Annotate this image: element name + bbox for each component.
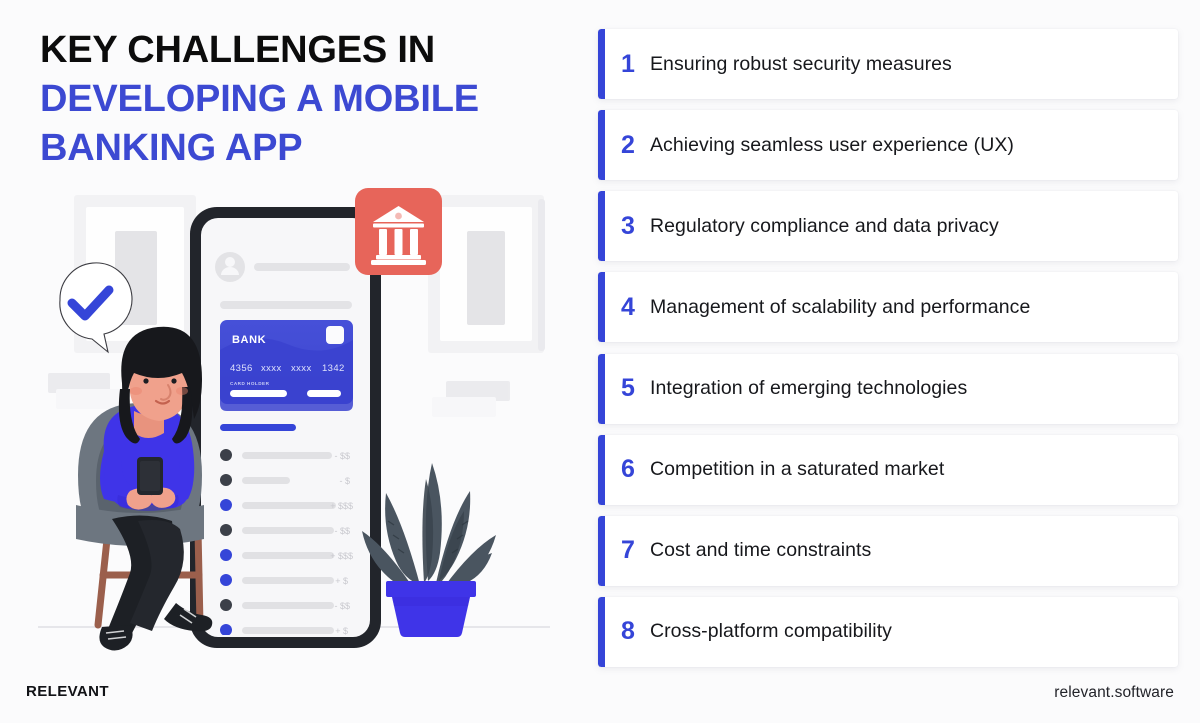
svg-text:- $$: - $$ bbox=[334, 601, 350, 611]
accent-bar bbox=[598, 272, 605, 342]
svg-text:1342: 1342 bbox=[322, 363, 345, 374]
progress-bar bbox=[220, 424, 296, 431]
item-label: Management of scalability and performanc… bbox=[650, 296, 1030, 319]
item-number: 5 bbox=[598, 374, 650, 403]
item-label: Ensuring robust security measures bbox=[650, 53, 952, 76]
accent-bar bbox=[598, 435, 605, 505]
website-url[interactable]: relevant.software bbox=[1054, 684, 1174, 702]
item-label: Integration of emerging technologies bbox=[650, 377, 967, 400]
svg-text:4356: 4356 bbox=[230, 363, 253, 374]
page-title: KEY CHALLENGES IN DEVELOPING A MOBILE BA… bbox=[40, 26, 570, 173]
svg-text:xxxx: xxxx bbox=[261, 363, 282, 374]
bank-building-icon bbox=[355, 188, 442, 275]
svg-text:+ $$$: + $$$ bbox=[330, 551, 353, 561]
accent-bar bbox=[598, 110, 605, 180]
item-label: Cross-platform compatibility bbox=[650, 620, 892, 643]
list-item[interactable]: 5 Integration of emerging technologies bbox=[598, 354, 1178, 424]
item-number: 8 bbox=[598, 617, 650, 646]
item-number: 7 bbox=[598, 536, 650, 565]
svg-text:+ $$$: + $$$ bbox=[330, 501, 353, 511]
list-item[interactable]: 1 Ensuring robust security measures bbox=[598, 29, 1178, 99]
svg-text:+ $: + $ bbox=[335, 576, 348, 586]
footer: RELEVANT relevant.software bbox=[0, 667, 1200, 723]
title-line-3: BANKING APP bbox=[40, 124, 570, 173]
item-number: 4 bbox=[598, 293, 650, 322]
item-number: 6 bbox=[598, 455, 650, 484]
accent-bar bbox=[598, 29, 605, 99]
list-item[interactable]: 4 Management of scalability and performa… bbox=[598, 272, 1178, 342]
item-number: 3 bbox=[598, 212, 650, 241]
title-line-2: DEVELOPING A MOBILE bbox=[40, 75, 570, 124]
accent-bar bbox=[598, 191, 605, 261]
list-item[interactable]: 8 Cross-platform compatibility bbox=[598, 597, 1178, 667]
list-item[interactable]: 2 Achieving seamless user experience (UX… bbox=[598, 110, 1178, 180]
svg-text:- $$: - $$ bbox=[334, 526, 350, 536]
accent-bar bbox=[598, 516, 605, 586]
brand-logo: RELEVANT bbox=[26, 683, 109, 700]
item-label: Regulatory compliance and data privacy bbox=[650, 215, 999, 238]
list-item[interactable]: 6 Competition in a saturated market bbox=[598, 435, 1178, 505]
item-label: Achieving seamless user experience (UX) bbox=[650, 134, 1014, 157]
svg-text:+ $: + $ bbox=[335, 626, 348, 636]
svg-text:CARD HOLDER: CARD HOLDER bbox=[230, 381, 270, 386]
svg-text:- $: - $ bbox=[339, 476, 350, 486]
challenges-list: 1 Ensuring robust security measures 2 Ac… bbox=[598, 29, 1178, 667]
item-number: 2 bbox=[598, 131, 650, 160]
accent-bar bbox=[598, 597, 605, 667]
svg-text:xxxx: xxxx bbox=[291, 363, 312, 374]
item-label: Competition in a saturated market bbox=[650, 458, 944, 481]
infographic-page: KEY CHALLENGES IN DEVELOPING A MOBILE BA… bbox=[0, 0, 1200, 723]
bank-card: BANK 4356 xxxx xxxx 1342 CARD HOLDER bbox=[220, 320, 353, 411]
item-label: Cost and time constraints bbox=[650, 539, 871, 562]
title-line-1: KEY CHALLENGES IN bbox=[40, 26, 570, 75]
potted-plant bbox=[362, 463, 496, 637]
item-number: 1 bbox=[598, 50, 650, 79]
left-column: KEY CHALLENGES IN DEVELOPING A MOBILE BA… bbox=[0, 0, 580, 723]
list-item[interactable]: 7 Cost and time constraints bbox=[598, 516, 1178, 586]
svg-text:- $$: - $$ bbox=[334, 451, 350, 461]
smartphone-mockup: BANK 4356 xxxx xxxx 1342 CARD HOLDER bbox=[190, 207, 381, 648]
svg-text:BANK: BANK bbox=[232, 334, 266, 346]
accent-bar bbox=[598, 354, 605, 424]
mobile-banking-illustration: BANK 4356 xxxx xxxx 1342 CARD HOLDER bbox=[30, 175, 570, 665]
list-item[interactable]: 3 Regulatory compliance and data privacy bbox=[598, 191, 1178, 261]
